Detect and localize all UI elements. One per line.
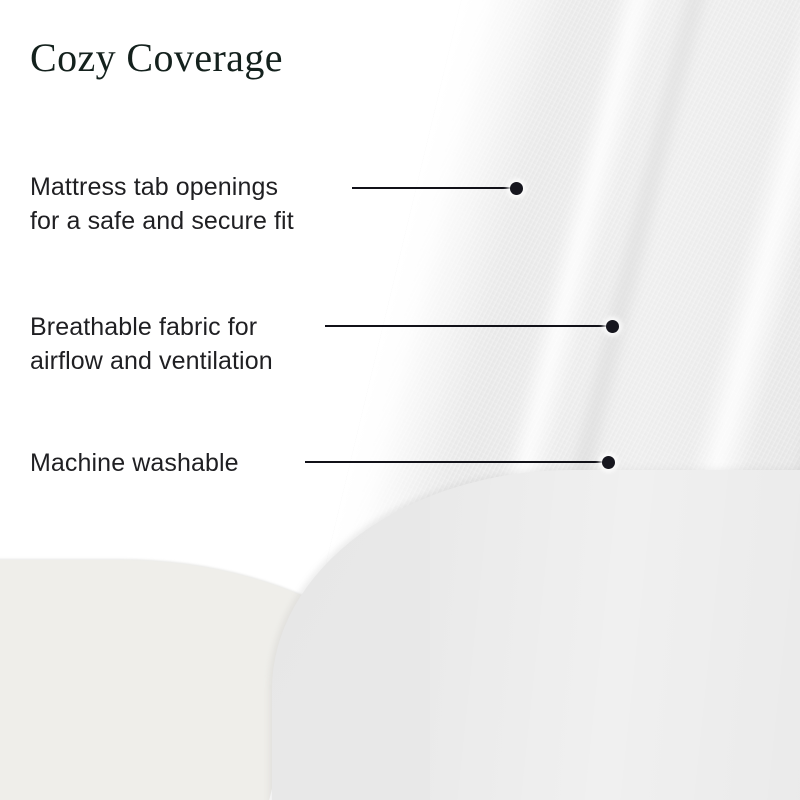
page-title: Cozy Coverage: [30, 34, 283, 81]
callout-text: Breathable fabric for airflow and ventil…: [30, 310, 273, 378]
leader-line-2: [325, 325, 608, 327]
callout-machine-washable: Machine washable: [30, 446, 239, 480]
leader-line-3: [305, 461, 604, 463]
leader-dot-1: [510, 182, 523, 195]
annotation-overlay: Cozy Coverage Mattress tab openings for …: [0, 0, 800, 800]
callout-mattress-tab-openings: Mattress tab openings for a safe and sec…: [30, 170, 294, 238]
callout-text: Machine washable: [30, 446, 239, 480]
product-feature-graphic: Cozy Coverage Mattress tab openings for …: [0, 0, 800, 800]
leader-line-1: [352, 187, 512, 189]
callout-text: Mattress tab openings for a safe and sec…: [30, 170, 294, 238]
leader-dot-3: [602, 456, 615, 469]
callout-breathable-fabric: Breathable fabric for airflow and ventil…: [30, 310, 273, 378]
leader-dot-2: [606, 320, 619, 333]
